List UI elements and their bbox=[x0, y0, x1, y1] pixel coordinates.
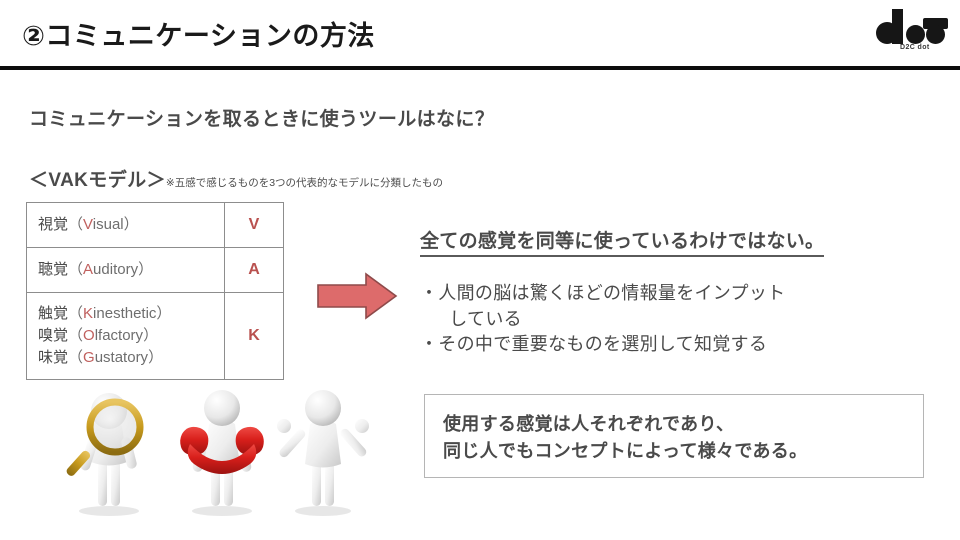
logo-caption: D2C dot bbox=[900, 44, 930, 51]
table-cell-code: V bbox=[225, 203, 284, 248]
table-cell-code: K bbox=[225, 293, 284, 380]
slide: ②コミュニケーションの方法 D2C dot コミュニケーションを取るときに使うツ… bbox=[0, 0, 960, 540]
sense-entry: 視覚（Visual） bbox=[38, 214, 224, 236]
note-box-text: 使用する感覚は人それぞれであり、 同じ人でもコンセプトによって様々である。 bbox=[443, 411, 807, 465]
right-headline: 全ての感覚を同等に使っているわけではない。 bbox=[420, 226, 824, 257]
sense-entry: 聴覚（Auditory） bbox=[38, 259, 224, 281]
table-cell-sense: 視覚（Visual） bbox=[27, 203, 225, 248]
table-row: 聴覚（Auditory） A bbox=[27, 248, 284, 293]
sense-entry: 味覚（Gustatory） bbox=[38, 347, 224, 369]
sense-entry: 嗅覚（Olfactory） bbox=[38, 325, 224, 347]
vak-table: 視覚（Visual） V 聴覚（Auditory） A 触覚（Kinesthet… bbox=[26, 202, 284, 380]
vak-heading: ＜VAKモデル＞ bbox=[29, 170, 166, 191]
table-row: 視覚（Visual） V bbox=[27, 203, 284, 248]
bullet-list: ・人間の脳は驚くほどの情報量をインプット している ・その中で重要なものを選別し… bbox=[420, 281, 785, 358]
figure-magnifying-glass-icon bbox=[65, 393, 140, 516]
table-cell-code: A bbox=[225, 248, 284, 293]
question-text: コミュニケーションを取るときに使うツールはなに？ bbox=[29, 104, 494, 131]
logo-d-stem-icon bbox=[892, 9, 903, 44]
page-title: ②コミュニケーションの方法 bbox=[22, 14, 375, 53]
table-cell-sense: 触覚（Kinesthetic） 嗅覚（Olfactory） 味覚（Gustato… bbox=[27, 293, 225, 380]
logo-t-dot-icon bbox=[926, 25, 945, 44]
vak-note: ※五感で感じるものを3つの代表的なモデルに分類したもの bbox=[166, 177, 443, 189]
table-cell-sense: 聴覚（Auditory） bbox=[27, 248, 225, 293]
note-box: 使用する感覚は人それぞれであり、 同じ人でもコンセプトによって様々である。 bbox=[424, 394, 924, 478]
logo-o-icon bbox=[906, 25, 925, 44]
sense-entry: 触覚（Kinesthetic） bbox=[38, 303, 224, 325]
figure-group bbox=[62, 382, 382, 517]
list-item: ・その中で重要なものを選別して知覚する bbox=[420, 332, 785, 358]
brand-logo: D2C dot bbox=[876, 8, 948, 54]
figure-arms-raised-icon bbox=[277, 390, 369, 516]
figure-telephone-icon bbox=[180, 390, 264, 516]
list-item: ・人間の脳は驚くほどの情報量をインプット している bbox=[420, 281, 785, 332]
table-row: 触覚（Kinesthetic） 嗅覚（Olfactory） 味覚（Gustato… bbox=[27, 293, 284, 380]
vak-heading-line: ＜VAKモデル＞※五感で感じるものを3つの代表的なモデルに分類したもの bbox=[29, 165, 443, 192]
title-divider bbox=[0, 66, 960, 70]
right-arrow-icon bbox=[316, 272, 398, 320]
